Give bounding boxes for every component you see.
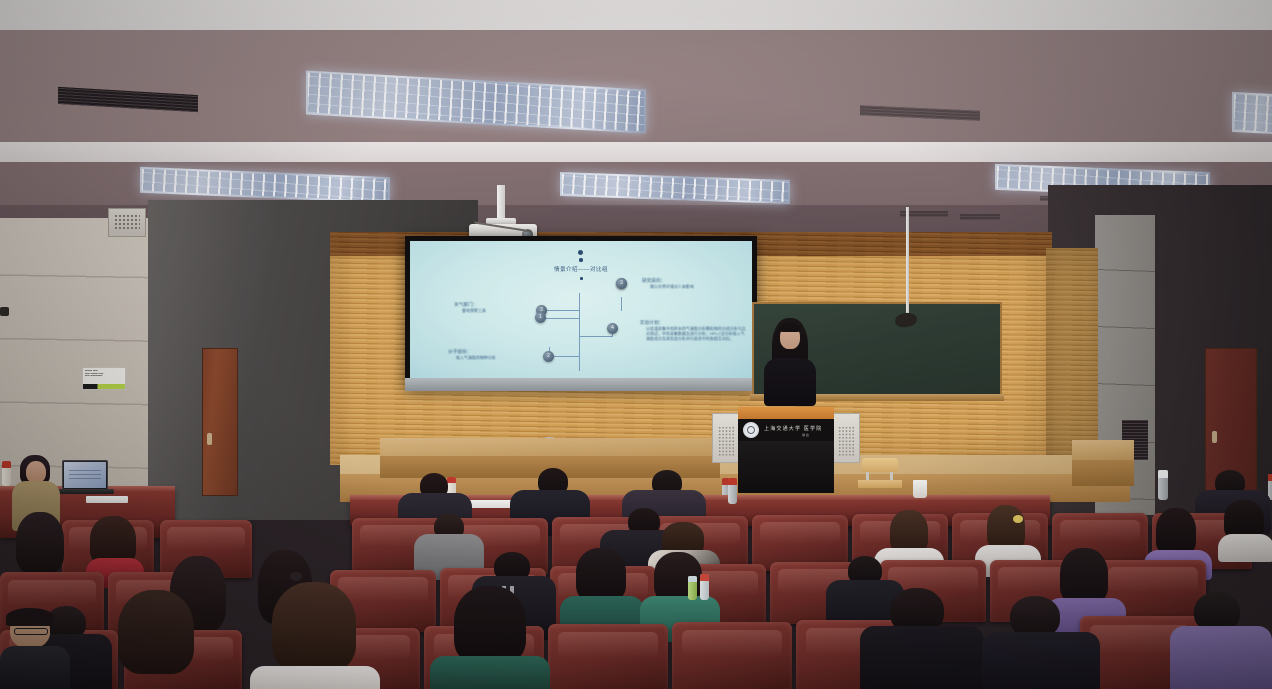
slide-branch-3: [544, 310, 580, 311]
lectern-sub-text: 讲 台: [802, 433, 809, 437]
hair-tie-icon: [1013, 515, 1023, 523]
attendee-hair: [118, 590, 194, 674]
attendee-body: [0, 646, 70, 689]
lectern-institution-text: 上海交通大学 医学院: [764, 425, 822, 432]
bottle-cap-icon: [2, 461, 11, 468]
hair-tie-icon: [290, 572, 302, 581]
drink-bottle: [688, 576, 697, 600]
attendee: [982, 596, 1100, 689]
attendee-body: [860, 626, 984, 689]
ceiling-recess-slot: [960, 214, 1000, 220]
ceiling-light-panel: [1232, 92, 1272, 138]
slide-node-4-body: 以低温核集中的样本的气溶胶分析颗粒物的分成分析与比对测试；中的采集数据及进行分析…: [646, 327, 748, 341]
slide-node-3-marker: 3: [616, 278, 627, 289]
laptop-screen: [62, 460, 108, 490]
laptop-display-content: [64, 462, 106, 488]
lectern: 上海交通大学 医学院 讲 台: [712, 407, 860, 489]
slide-bullet-dot: [580, 277, 583, 280]
desk-paper: [86, 496, 128, 503]
slide-node-1-heading: 天气部门：: [454, 302, 477, 308]
stage-right-step: [1072, 440, 1134, 462]
auditorium-seat[interactable]: [548, 624, 668, 689]
attendee-hair: [16, 512, 64, 574]
slide-bullet-dot: [579, 258, 583, 262]
slide-node-4: 4: [607, 323, 618, 334]
attendee: [430, 586, 550, 689]
attendee: [1170, 592, 1272, 689]
operator-head: [26, 461, 46, 483]
presenter: [758, 318, 822, 406]
attendee-hair: [576, 548, 626, 602]
slide-timeline-spine: [579, 293, 580, 371]
slide-node-2-body: 吸入气溶胶的物种分析: [456, 356, 496, 361]
attendee-hair: [272, 582, 356, 672]
attendee-hair: [454, 586, 526, 664]
stage-chair-back: [862, 458, 898, 472]
bottle-cap-icon: [1158, 470, 1168, 478]
lectern-speaker-left: [712, 413, 740, 463]
slide-node-4-heading: 实验计划：: [640, 320, 663, 326]
stage-chair: [856, 458, 902, 494]
door-handle-icon: [207, 433, 212, 445]
lectern-body: [738, 441, 834, 493]
thermos-bottle: [1158, 470, 1168, 500]
projection-screen-bottom-bar: [405, 378, 757, 391]
attendee-body: [1170, 626, 1272, 689]
slide-node-2: 2: [543, 351, 554, 362]
lecture-hall-photo: ▬▬▬ ▬▬▬▬ ▬▬▬ ▬▬▬▬ ▬▬▬▬▬ 情景介绍——对比组 3 3 1: [0, 0, 1272, 689]
bottle-cap-icon: [728, 478, 737, 485]
ceiling-camera-pole: [906, 207, 909, 317]
attendee: [100, 590, 220, 689]
paper-cup: [913, 480, 927, 498]
lectern-nameplate: 上海交通大学 医学院 讲 台: [738, 419, 834, 441]
attendee-hair: [6, 608, 54, 626]
slide-node-3-body: 揭示外界环境对人体影响: [650, 285, 746, 290]
door-handle-icon: [1212, 431, 1217, 443]
water-bottle: [2, 461, 11, 486]
attendee: [0, 600, 70, 689]
attendee-body: [1218, 534, 1272, 562]
wall-sign-text: ▬▬▬ ▬▬▬▬ ▬▬▬ ▬▬▬▬ ▬▬▬▬▬: [83, 368, 125, 378]
slide-branch-4: [579, 336, 613, 337]
attendee-body: [250, 666, 380, 689]
auditorium-seat[interactable]: [672, 622, 792, 689]
projector-mount-pole: [497, 185, 505, 221]
lectern-speaker-right: [832, 413, 860, 463]
wall-sign-accent-bar: [83, 384, 125, 389]
slide-title: 情景介绍——对比组: [410, 265, 752, 273]
wall-loudspeaker-left: [108, 208, 146, 237]
attendee-hair: [1156, 508, 1196, 556]
slide-branch-3-drop: [621, 297, 622, 311]
attendee: [250, 582, 380, 689]
attendee-body: [430, 656, 550, 689]
slide-node-3-heading: 研究目的：: [642, 278, 665, 284]
slide-branch-1: [542, 318, 580, 319]
stage-chair-seat: [858, 480, 902, 488]
bottle-cap-icon: [700, 574, 709, 581]
university-seal-icon: [743, 422, 759, 438]
presenter-bangs: [779, 323, 801, 332]
stage-back-slat-wall-right: [1046, 248, 1098, 462]
bottle-cap-icon: [688, 576, 697, 582]
eyeglasses-icon: [14, 628, 48, 635]
presenter-body: [764, 358, 816, 406]
thermos-bottle: [728, 478, 737, 504]
slide-node-2-heading: 分子组份：: [448, 349, 471, 355]
wall-notice-sign: ▬▬▬ ▬▬▬▬ ▬▬▬ ▬▬▬▬ ▬▬▬▬▬: [82, 367, 126, 390]
slide-node-1: 1: [535, 312, 546, 323]
attendee-body: [982, 632, 1100, 689]
wall-sensor-icon: [0, 307, 9, 316]
stage-right-step-face: [1072, 460, 1134, 486]
attendee: [1218, 500, 1272, 560]
slide-bullet-dot: [578, 250, 583, 255]
door-left[interactable]: [202, 348, 238, 496]
projection-screen: 情景介绍——对比组 3 3 1 4 2 天气部门： 雷电预警工具 分子组份： 吸…: [410, 241, 752, 378]
drink-bottle: [700, 574, 709, 600]
laptop-base: [58, 489, 114, 494]
slide-node-1-body: 雷电预警工具: [462, 309, 486, 314]
attendee: [860, 588, 984, 689]
lectern-wood-top: [738, 407, 834, 419]
stage-upper-step: [380, 438, 720, 458]
